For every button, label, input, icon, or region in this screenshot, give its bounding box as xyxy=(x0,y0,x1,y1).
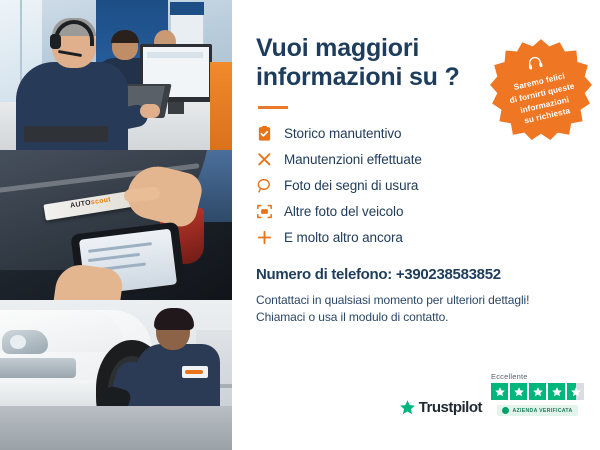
trustpilot-widget[interactable]: Trustpilot Eccellente xyxy=(399,372,584,416)
headset-earcup-decor xyxy=(50,34,61,49)
badge-text: Saremo felici di fornirti queste informa… xyxy=(495,66,591,132)
photo-column: AUTOscout xyxy=(0,0,232,450)
list-item-label: Altre foto del veicolo xyxy=(284,204,403,219)
orange-object-decor xyxy=(210,62,232,150)
agent-one-hand xyxy=(140,104,160,118)
verified-company-badge: AZIENDA VERIFICATA xyxy=(497,405,577,416)
star-filled xyxy=(548,383,565,400)
vehicle-inspection-tool-photo: AUTOscout xyxy=(0,150,232,300)
uniform-patch-decor xyxy=(182,366,208,378)
star-partial xyxy=(567,383,584,400)
headset-icon xyxy=(525,54,545,76)
list-item-label: Foto dei segni di usura xyxy=(284,178,418,193)
info-request-banner: AUTOscout xyxy=(0,0,600,450)
verified-check-icon xyxy=(502,407,509,414)
lift-platform-decor xyxy=(0,406,232,450)
star-filled xyxy=(510,383,527,400)
star-rating xyxy=(491,383,584,400)
trustpilot-name: Trustpilot xyxy=(419,399,482,416)
plus-icon xyxy=(256,229,273,246)
star-filled xyxy=(529,383,546,400)
on-request-badge: Saremo felici di fornirti queste informa… xyxy=(489,37,593,141)
tools-cross-icon xyxy=(256,151,273,168)
mechanic-wheel-check-photo xyxy=(0,300,232,450)
badge-content: Saremo felici di fornirti queste informa… xyxy=(479,27,600,152)
verified-label: AZIENDA VERIFICATA xyxy=(512,408,572,414)
trustpilot-star-icon xyxy=(399,399,416,416)
poster-band-decor xyxy=(170,2,204,15)
list-item: Foto dei segni di usura xyxy=(256,177,578,194)
content-panel: Vuoi maggiori informazioni su ? Storico … xyxy=(232,0,600,450)
magnifier-icon xyxy=(256,177,273,194)
list-item: Altre foto del veicolo xyxy=(256,203,578,220)
clipboard-check-icon xyxy=(256,125,273,142)
monitor-stand-decor xyxy=(168,102,184,114)
headlight-decor xyxy=(2,330,48,354)
contact-block: Numero di telefono: +390238583852 Contat… xyxy=(256,266,578,327)
phone-number[interactable]: +390238583852 xyxy=(396,266,501,283)
title-underline-rule xyxy=(258,106,288,109)
list-item: E molto altro ancora xyxy=(256,229,578,246)
list-item-label: Manutenzioni effettuate xyxy=(284,152,422,167)
contact-note-line-1: Contattaci in qualsiasi momento per ulte… xyxy=(256,292,578,309)
call-center-agents-photo xyxy=(0,0,232,150)
phone-label: Numero di telefono: xyxy=(256,266,392,283)
mechanic-hair xyxy=(154,308,194,330)
camera-scan-icon xyxy=(256,203,273,220)
grille-decor xyxy=(0,358,76,378)
phone-line[interactable]: Numero di telefono: +390238583852 xyxy=(256,266,578,283)
star-filled xyxy=(491,383,508,400)
list-item-label: E molto altro ancora xyxy=(284,230,403,245)
list-item: Manutenzioni effettuate xyxy=(256,151,578,168)
bumper-decor xyxy=(0,380,106,406)
rating-label: Eccellente xyxy=(491,372,528,381)
contact-note-line-2: Chiamaci o usa il modulo di contatto. xyxy=(256,309,578,326)
trustpilot-rating-area: Eccellente xyxy=(491,372,584,416)
page-title: Vuoi maggiori informazioni su ? xyxy=(256,34,471,92)
list-item-label: Storico manutentivo xyxy=(284,126,401,141)
trustpilot-logo[interactable]: Trustpilot xyxy=(399,399,482,416)
keyboard-decor xyxy=(24,126,108,142)
